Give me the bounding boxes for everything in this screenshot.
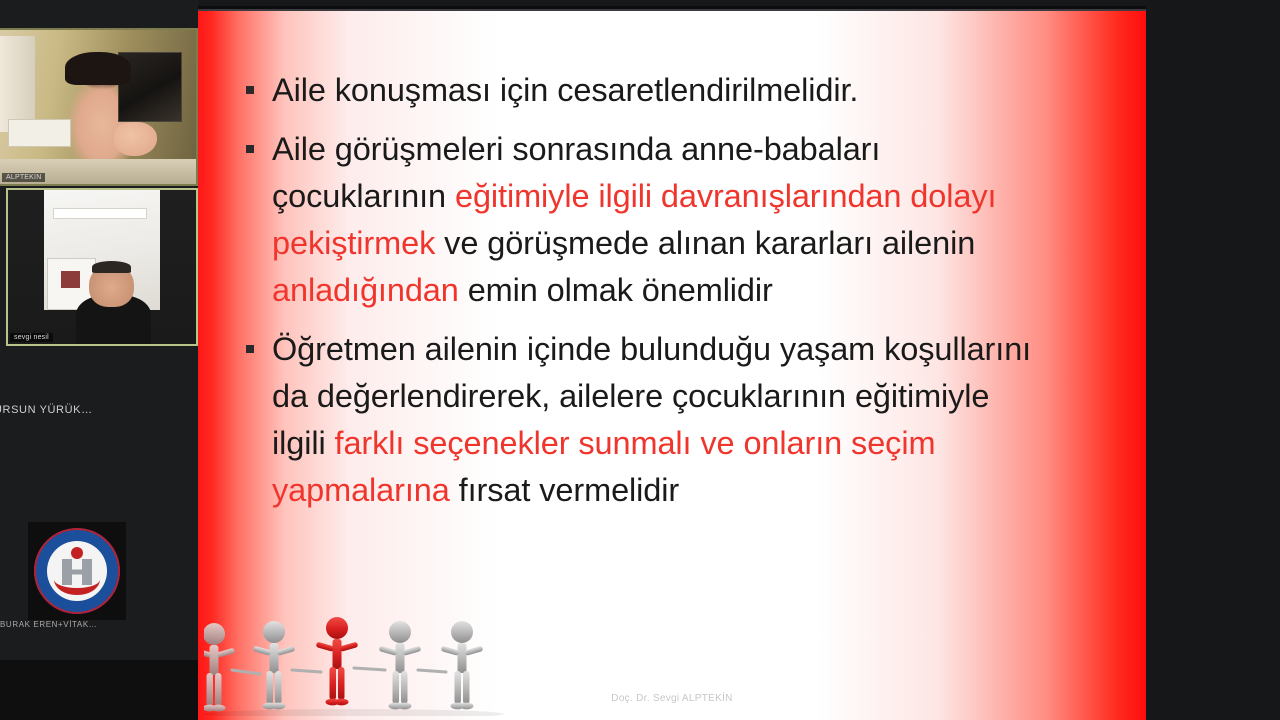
background-paper xyxy=(8,119,71,147)
screen-share-view: ALPTEKİN sevgi nesil URSUN YÜRÜK… BURAK … xyxy=(0,0,1280,720)
slide-bullet-list: Aile konuşması için cesaretlendirilmelid… xyxy=(224,67,1050,526)
slide-bullet: Aile konuşması için cesaretlendirilmelid… xyxy=(224,67,1050,114)
right-gutter xyxy=(1146,0,1280,720)
bullet-text: emin olmak önemlidir xyxy=(459,272,773,308)
bullet-text: ve görüşmede alınan kararları ailenin xyxy=(435,225,975,261)
shared-slide: Aile konuşması için cesaretlendirilmelid… xyxy=(198,6,1146,720)
institution-emblem-icon xyxy=(28,522,126,620)
background-door xyxy=(0,36,35,131)
speaker-hair xyxy=(65,52,132,86)
slide-footer-credit: Doç. Dr. Sevgi ALPTEKİN xyxy=(198,693,1146,704)
roster-entry-1[interactable]: URSUN YÜRÜK… xyxy=(0,404,93,416)
roster-entry-2[interactable]: BURAK EREN+VİTAK… xyxy=(0,620,97,629)
participant-head xyxy=(89,264,134,307)
slide-bullet: Aile görüşmeleri sonrasında anne-babalar… xyxy=(224,126,1050,314)
background-shelf xyxy=(53,208,147,219)
slide-bullet: Öğretmen ailenin içinde bulunduğu yaşam … xyxy=(224,326,1050,514)
bullet-text: fırsat vermelidir xyxy=(450,472,679,508)
speaker-hand xyxy=(114,122,157,156)
participant-name-tag: ALPTEKİN xyxy=(2,173,45,182)
bullet-text-highlight: anladığından xyxy=(272,272,459,308)
bullet-text: Aile konuşması için cesaretlendirilmelid… xyxy=(272,72,858,108)
speaker-webcam-feed xyxy=(0,30,196,184)
participant-name-tag: sevgi nesil xyxy=(10,333,53,342)
participant-tile-second[interactable]: sevgi nesil xyxy=(6,188,198,346)
second-webcam-feed xyxy=(8,190,196,344)
panel-bottom-filler xyxy=(0,660,198,720)
video-participant-panel: ALPTEKİN sevgi nesil URSUN YÜRÜK… BURAK … xyxy=(0,0,198,720)
participant-tile-speaker[interactable]: ALPTEKİN xyxy=(0,28,198,186)
